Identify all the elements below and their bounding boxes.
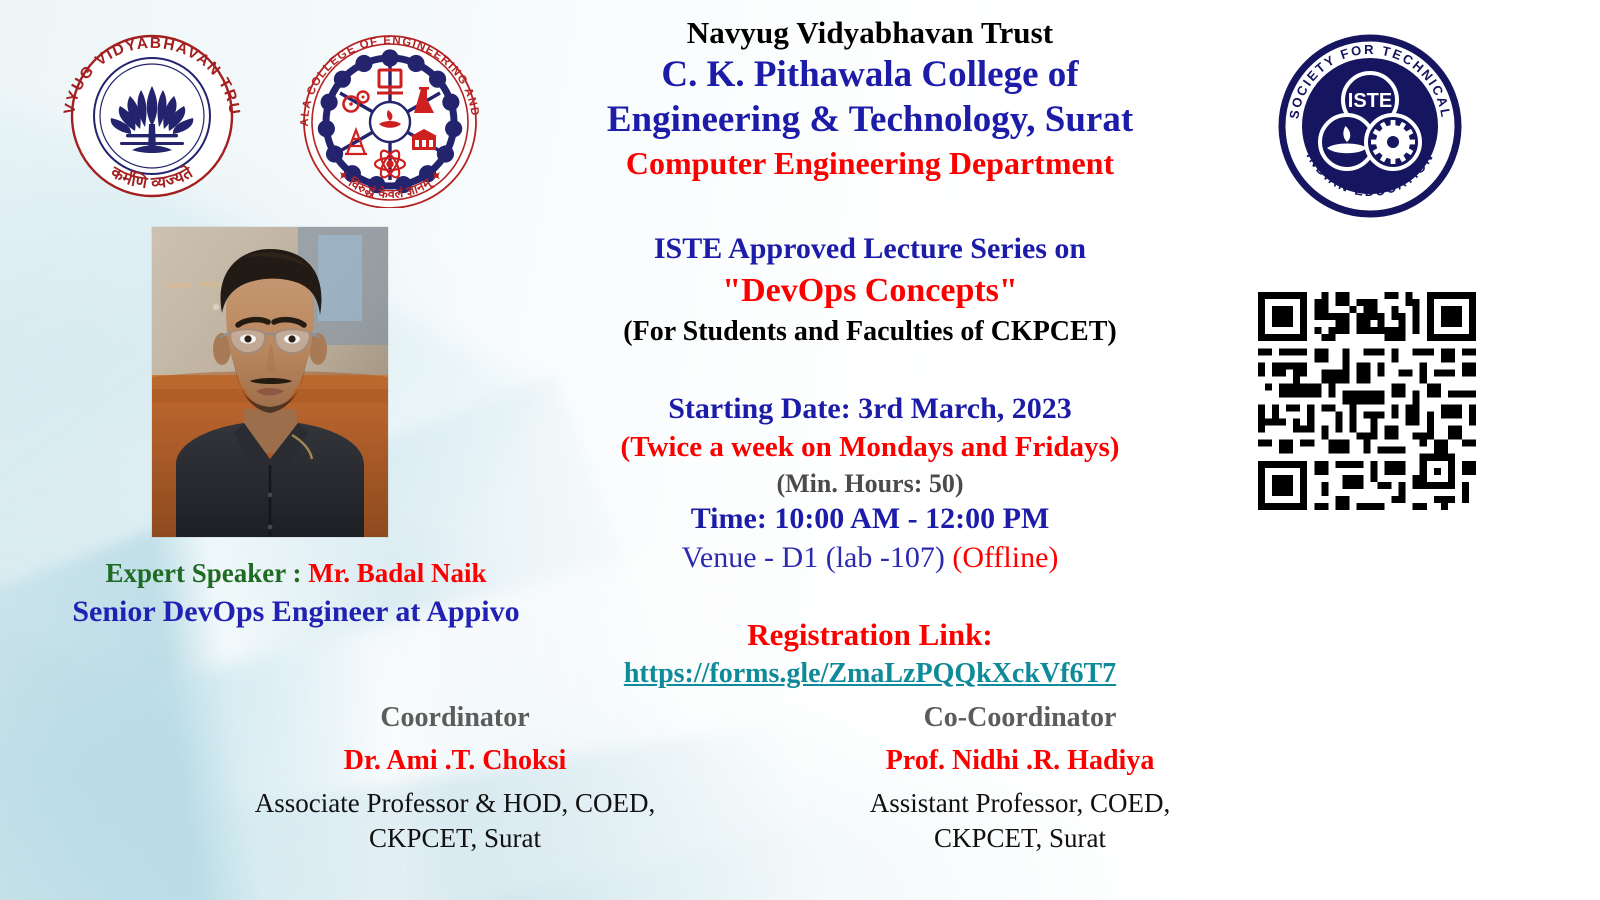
registration-label: Registration Link: [560, 618, 1180, 653]
department-name: Computer Engineering Department [560, 146, 1180, 182]
series-topic: "DevOps Concepts" [560, 272, 1180, 310]
svg-text:ISTE: ISTE [1348, 90, 1392, 112]
speaker-details: Expert Speaker : Mr. Badal Naik Senior D… [10, 558, 582, 629]
cocoordinator-details: Co-Coordinator Prof. Nidhi .R. Hadiya As… [810, 702, 1230, 856]
speaker-name-line: Expert Speaker : Mr. Badal Naik [10, 558, 582, 588]
coordinator-role: Coordinator [245, 702, 665, 734]
series-approval: ISTE Approved Lecture Series on [560, 232, 1180, 266]
frequency: (Twice a week on Mondays and Fridays) [560, 431, 1180, 463]
cocoordinator-role: Co-Coordinator [810, 702, 1230, 734]
speaker-designation: Senior DevOps Engineer at Appivo [10, 595, 582, 629]
college-name-line1: C. K. Pithawala College of [661, 54, 1078, 95]
lecture-series-title: ISTE Approved Lecture Series on "DevOps … [560, 232, 1180, 347]
venue-location: Venue - D1 (lab -107) [682, 541, 953, 574]
venue-mode: (Offline) [952, 541, 1058, 574]
registration-section: Registration Link: https://forms.gle/Zma… [560, 618, 1180, 689]
registration-qr-code[interactable] [1250, 285, 1484, 517]
coordinator-designation-line2: CKPCET, Surat [245, 821, 665, 856]
coordinator-designation-line1: Associate Professor & HOD, COED, [255, 788, 655, 818]
cocoordinator-designation-line2: CKPCET, Surat [810, 821, 1230, 856]
poster-canvas: NAVYUG VIDYABHAVAN TRUST कर्मणि व्यज्यत [0, 0, 1600, 900]
trust-name: Navyug Vidyabhavan Trust [560, 16, 1180, 51]
speaker-portrait-photo [152, 227, 388, 537]
session-time: Time: 10:00 AM - 12:00 PM [560, 502, 1180, 536]
navyug-vidyabhavan-trust-logo: NAVYUG VIDYABHAVAN TRUST कर्मणि व्यज्यत [52, 28, 252, 200]
cocoordinator-name: Prof. Nidhi .R. Hadiya [810, 745, 1230, 777]
ckpcet-college-logo: C. K. PITHAWALA COLLEGE OF ENGINEERING A… [292, 28, 488, 208]
college-name-line2: Engineering & Technology, Surat [560, 99, 1180, 140]
series-audience: (For Students and Faculties of CKPCET) [560, 316, 1180, 347]
starting-date: Starting Date: 3rd March, 2023 [560, 392, 1180, 426]
venue: Venue - D1 (lab -107) (Offline) [560, 541, 1180, 575]
institution-header: Navyug Vidyabhavan Trust C. K. Pithawala… [560, 16, 1180, 181]
coordinator-name: Dr. Ami .T. Choksi [245, 745, 665, 777]
coordinator-designation: Associate Professor & HOD, COED, CKPCET,… [245, 786, 665, 856]
cocoordinator-designation: Assistant Professor, COED, CKPCET, Surat [810, 786, 1230, 856]
iste-logo: SOCIETY FOR TECHNICAL INDIAN EDUCATION I… [1272, 28, 1468, 224]
cocoordinator-designation-line1: Assistant Professor, COED, [870, 788, 1170, 818]
college-name: C. K. Pithawala College of Engineering &… [560, 54, 1180, 141]
registration-link[interactable]: https://forms.gle/ZmaLzPQQkXckVf6T7 [624, 658, 1116, 689]
minimum-hours: (Min. Hours: 50) [560, 469, 1180, 498]
speaker-name: Mr. Badal Naik [308, 558, 486, 588]
speaker-label: Expert Speaker : [105, 558, 308, 588]
coordinator-details: Coordinator Dr. Ami .T. Choksi Associate… [245, 702, 665, 856]
registration-url-wrap: https://forms.gle/ZmaLzPQQkXckVf6T7 [560, 653, 1180, 689]
schedule-details: Starting Date: 3rd March, 2023 (Twice a … [560, 392, 1180, 574]
